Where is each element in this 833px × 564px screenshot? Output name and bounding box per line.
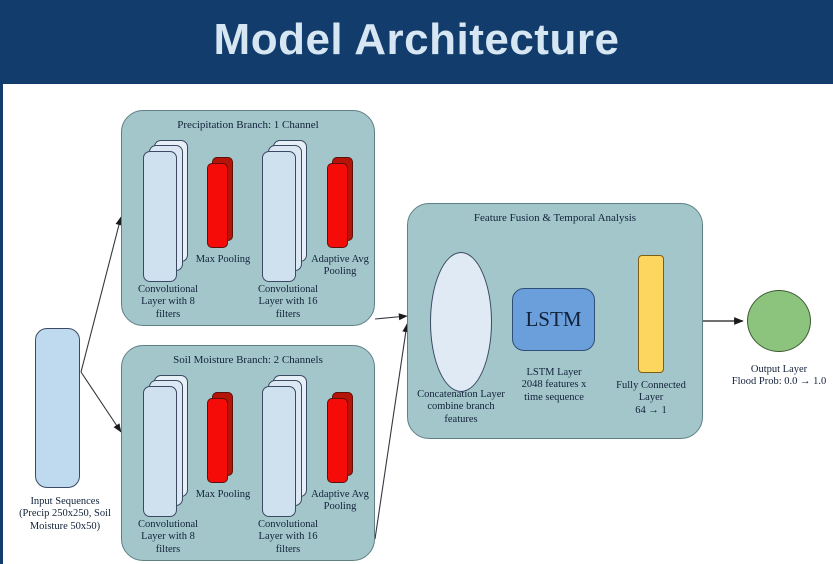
input-caption-line-2: (Precip 250x250, Soil [3, 508, 127, 520]
conv1-caption-line-1: Convolutional [113, 519, 223, 531]
conv-sheet-front [262, 386, 296, 517]
lstm-caption: LSTM Layer 2048 features x time sequence [503, 367, 605, 404]
precipitation-maxpool-caption: Max Pooling [181, 254, 265, 266]
pool-face [207, 163, 228, 248]
conv2-caption-line-3: filters [233, 309, 343, 321]
lstm-caption-line-3: time sequence [503, 392, 605, 404]
precipitation-conv2-caption: Convolutional Layer with 16 filters [233, 284, 343, 321]
avgpool-caption-line-1: Adaptive Avg [297, 489, 383, 501]
page-title: Model Architecture [0, 0, 833, 80]
fc-caption-line-3: 64 → 1 [604, 405, 698, 417]
input-caption-line-1: Input Sequences [3, 496, 127, 508]
precipitation-conv1-caption: Convolutional Layer with 8 filters [113, 284, 223, 321]
conv2-caption-line-3: filters [233, 544, 343, 556]
avgpool-caption-line-1: Adaptive Avg [297, 254, 383, 266]
precipitation-avgpool-caption: Adaptive Avg Pooling [297, 254, 383, 279]
concatenation-layer-block [430, 252, 492, 392]
conv1-caption-line-2: Layer with 8 [113, 531, 223, 543]
fully-connected-block [638, 255, 664, 373]
input-sequences-caption: Input Sequences (Precip 250x250, Soil Mo… [3, 496, 127, 533]
fc-caption-line-1: Fully Connected [604, 380, 698, 392]
fc-caption-line-2: Layer [604, 392, 698, 404]
lstm-block: LSTM [512, 288, 595, 351]
lstm-block-label: LSTM [525, 307, 581, 332]
avgpool-caption-line-2: Pooling [297, 266, 383, 278]
conv2-caption-line-1: Convolutional [233, 519, 343, 531]
maxpool-caption-line-1: Max Pooling [181, 489, 265, 501]
precipitation-branch-title: Precipitation Branch: 1 Channel [122, 119, 374, 131]
lstm-caption-line-2: 2048 features x [503, 379, 605, 391]
soil-conv1-caption: Convolutional Layer with 8 filters [113, 519, 223, 556]
soil-conv2-caption: Convolutional Layer with 16 filters [233, 519, 343, 556]
output-caption-line-2: Flood Prob: 0.0 → 1.0 [715, 376, 833, 388]
diagram-canvas: Input Sequences (Precip 250x250, Soil Mo… [0, 84, 833, 564]
input-sequences-block [35, 328, 80, 488]
soil-moisture-branch-title: Soil Moisture Branch: 2 Channels [122, 354, 374, 366]
conv2-caption-line-2: Layer with 16 [233, 531, 343, 543]
lstm-caption-line-1: LSTM Layer [503, 367, 605, 379]
feature-fusion-title: Feature Fusion & Temporal Analysis [408, 212, 702, 224]
conv1-caption-line-3: filters [113, 544, 223, 556]
soil-avgpool-caption: Adaptive Avg Pooling [297, 489, 383, 514]
header-banner: Model Architecture [0, 0, 833, 80]
output-layer-block [747, 290, 811, 352]
pool-face [327, 163, 348, 248]
output-caption-line-1: Output Layer [715, 364, 833, 376]
conv-sheet-front [262, 151, 296, 282]
input-caption-line-3: Moisture 50x50) [3, 521, 127, 533]
concat-caption-line-3: features [401, 414, 521, 426]
avgpool-caption-line-2: Pooling [297, 501, 383, 513]
soil-maxpool-block [207, 392, 237, 483]
conv2-caption-line-2: Layer with 16 [233, 296, 343, 308]
conv1-caption-line-1: Convolutional [113, 284, 223, 296]
conv2-caption-line-1: Convolutional [233, 284, 343, 296]
precipitation-avgpool-block [327, 157, 357, 248]
soil-avgpool-block [327, 392, 357, 483]
conv-sheet-front [143, 151, 177, 282]
conv1-caption-line-2: Layer with 8 [113, 296, 223, 308]
output-layer-caption: Output Layer Flood Prob: 0.0 → 1.0 [715, 364, 833, 389]
conv1-caption-line-3: filters [113, 309, 223, 321]
pool-face [327, 398, 348, 483]
maxpool-caption-line-1: Max Pooling [181, 254, 265, 266]
precipitation-maxpool-block [207, 157, 237, 248]
conv-sheet-front [143, 386, 177, 517]
fully-connected-caption: Fully Connected Layer 64 → 1 [604, 380, 698, 417]
soil-maxpool-caption: Max Pooling [181, 489, 265, 501]
model-architecture-diagram: Model Architecture [0, 0, 833, 564]
pool-face [207, 398, 228, 483]
